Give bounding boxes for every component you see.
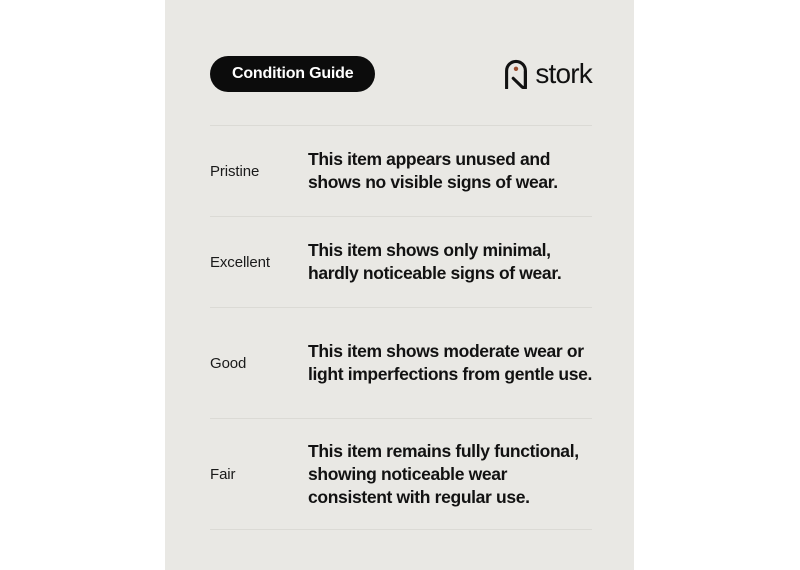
card-header: Condition Guide stork <box>165 56 634 92</box>
condition-guide-badge[interactable]: Condition Guide <box>210 56 375 92</box>
condition-label: Pristine <box>210 163 308 180</box>
condition-label: Fair <box>210 466 308 483</box>
condition-guide-card: Condition Guide stork Pristine This item… <box>165 0 634 570</box>
condition-description: This item remains fully functional, show… <box>308 440 592 509</box>
brand-lockup: stork <box>504 54 592 94</box>
condition-description: This item shows moderate wear or light i… <box>308 340 592 386</box>
table-row: Good This item shows moderate wear or li… <box>210 308 592 418</box>
condition-description: This item appears unused and shows no vi… <box>308 148 592 194</box>
table-row: Fair This item remains fully functional,… <box>210 419 592 529</box>
divider-bottom <box>210 529 592 530</box>
stork-wordmark: stork <box>535 60 592 88</box>
condition-label: Good <box>210 355 308 372</box>
page-root: Condition Guide stork Pristine This item… <box>0 0 800 570</box>
condition-guide-table: Pristine This item appears unused and sh… <box>210 125 592 530</box>
condition-label: Excellent <box>210 254 308 271</box>
condition-description: This item shows only minimal, hardly not… <box>308 239 592 285</box>
table-row: Pristine This item appears unused and sh… <box>210 126 592 216</box>
stork-arch-mark-icon <box>504 59 528 89</box>
table-row: Excellent This item shows only minimal, … <box>210 217 592 307</box>
